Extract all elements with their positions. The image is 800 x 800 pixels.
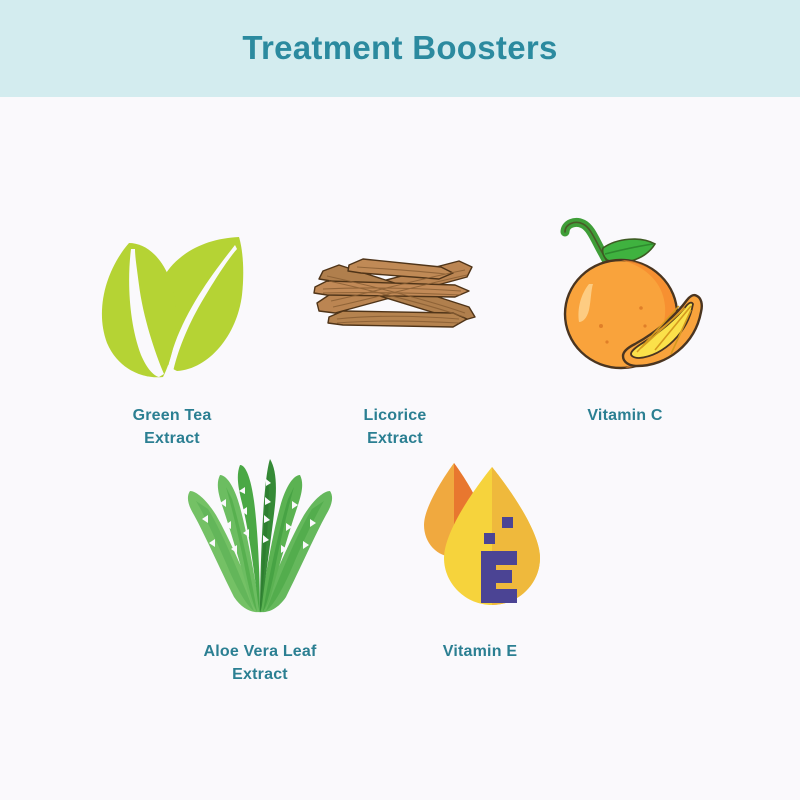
aloe-vera-plant-icon [180,447,340,617]
ingredient-label-vitamin-c: Vitamin C [587,405,662,428]
ingredient-label-aloe-vera: Aloe Vera Leaf Extract [160,641,360,686]
licorice-sticks-icon [309,209,481,379]
ingredient-card-licorice[interactable]: Licorice Extract [315,209,475,450]
ingredient-card-aloe-vera[interactable]: Aloe Vera Leaf Extract [180,447,340,686]
ingredient-card-green-tea[interactable]: Green Tea Extract [92,209,252,450]
ingredient-label-green-tea: Green Tea Extract [133,405,212,450]
poster-canvas: Treatment Boosters Green Tea Extract [0,0,800,800]
ingredient-card-vitamin-e[interactable]: Vitamin E [400,447,560,664]
orange-fruit-icon [545,197,705,379]
ingredient-label-licorice: Licorice Extract [364,405,427,450]
vitamin-e-droplets-icon [410,447,550,617]
page-title: Treatment Boosters [242,31,557,67]
ingredient-card-vitamin-c[interactable]: Vitamin C [545,197,705,428]
ingredient-grid: Green Tea Extract [0,97,800,800]
ingredient-label-vitamin-e: Vitamin E [443,641,517,664]
green-tea-leaves-icon [97,209,247,379]
header-bar: Treatment Boosters [0,0,800,97]
